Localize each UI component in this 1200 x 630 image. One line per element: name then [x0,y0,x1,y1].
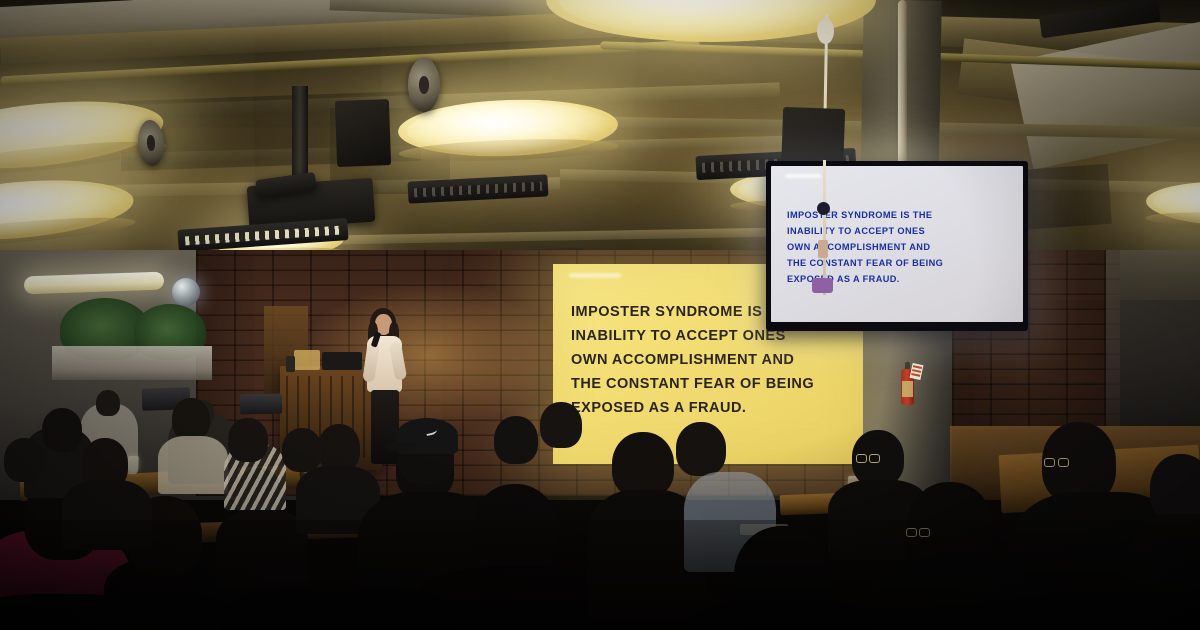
audience-person-head [172,398,210,440]
cable-knob [817,18,834,44]
tv-slide-line-1: IMPOSTER SYNDROME IS THE [787,210,932,220]
audience-person-body [158,436,228,494]
tv-slide-line-2: INABILITY TO ACCEPT ONES [787,226,925,236]
audience-person-body [690,600,880,630]
audience-person-head [472,484,558,576]
audience-person-head [540,402,582,448]
baseball-cap [396,418,458,454]
audience-person-head [228,418,268,462]
audience-person-body [62,480,152,550]
bar-counter [52,346,212,380]
eyeglasses [906,528,934,538]
audience-person-head [318,424,360,472]
slide-line-2: INABILITY TO ACCEPT ONES [571,328,786,344]
tv-slide-watermark [785,174,821,178]
audience-person-head [282,428,322,472]
slide-line-1: IMPOSTER SYNDROME IS THE [571,304,797,320]
laptop [240,394,282,415]
disco-ball [172,278,200,306]
tv-slide-line-4: THE CONSTANT FEAR OF BEING [787,258,943,268]
audience-person-head [42,408,82,452]
cable-clip-front [818,240,828,258]
audience-area [0,380,1200,630]
eyeglasses [856,454,886,464]
slide-watermark [569,273,621,278]
audience-person-head [612,432,674,498]
cable-weight-front [812,278,833,293]
audience-person-body [216,510,308,588]
cable-ball-front [817,202,830,215]
audience-person-head [676,422,726,476]
eyeglasses [1044,458,1074,468]
audience-person-head [494,416,538,464]
wall-mounted-tv: IMPOSTER SYNDROME IS THE INABILITY TO AC… [766,161,1028,331]
hanging-cable-front [823,160,826,295]
podium-equipment [286,356,295,372]
slide-line-3: OWN ACCOMPLISHMENT AND [571,352,794,368]
tv-slide-line-5: EXPOSED AS A FRAUD. [787,274,900,284]
event-photo-scene: IMPOSTER SYNDROME IS THE INABILITY TO AC… [0,0,1200,630]
podium-equipment [294,350,320,370]
projector-mount [292,86,308,182]
ceiling-speaker [335,99,391,167]
cable-reel [408,58,440,112]
audience-person-body [220,586,460,630]
audience-person-head [96,390,120,416]
pendant-light [0,172,136,248]
audience-person-head [4,438,44,482]
tv-slide-line-3: OWN ACCOMPLISHMENT AND [787,242,930,252]
tv-panel: IMPOSTER SYNDROME IS THE INABILITY TO AC… [771,166,1023,322]
